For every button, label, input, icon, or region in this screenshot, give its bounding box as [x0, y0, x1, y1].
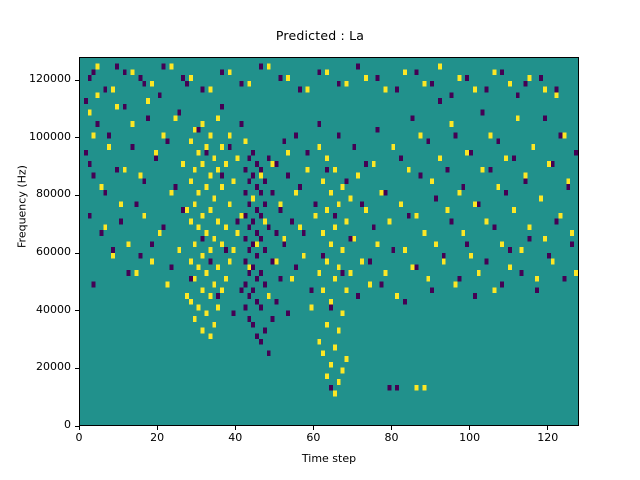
x-axis-label: Time step	[79, 452, 579, 465]
y-tick-label: 80000	[0, 187, 71, 200]
x-tick-mark	[313, 426, 314, 430]
y-tick-label: 0	[0, 418, 71, 431]
heatmap-axes	[79, 57, 579, 426]
x-tick-label: 60	[306, 431, 320, 444]
x-tick-label: 40	[228, 431, 242, 444]
x-tick-label: 120	[537, 431, 558, 444]
x-tick-mark	[235, 426, 236, 430]
y-tick-label: 120000	[0, 72, 71, 85]
y-tick-label: 60000	[0, 245, 71, 258]
x-tick-mark	[547, 426, 548, 430]
x-tick-label: 100	[459, 431, 480, 444]
x-tick-mark	[469, 426, 470, 430]
x-tick-label: 80	[385, 431, 399, 444]
x-tick-label: 20	[150, 431, 164, 444]
heatmap-image	[80, 58, 578, 425]
y-tick-label: 40000	[0, 303, 71, 316]
page-title: Predicted : La	[0, 28, 640, 43]
x-tick-mark	[157, 426, 158, 430]
y-tick-label: 100000	[0, 130, 71, 143]
x-tick-mark	[391, 426, 392, 430]
matplotlib-figure: Predicted : La Frequency (Hz) 0200004000…	[0, 0, 640, 480]
x-tick-mark	[79, 426, 80, 430]
x-tick-label: 0	[76, 431, 83, 444]
y-tick-label: 20000	[0, 360, 71, 373]
